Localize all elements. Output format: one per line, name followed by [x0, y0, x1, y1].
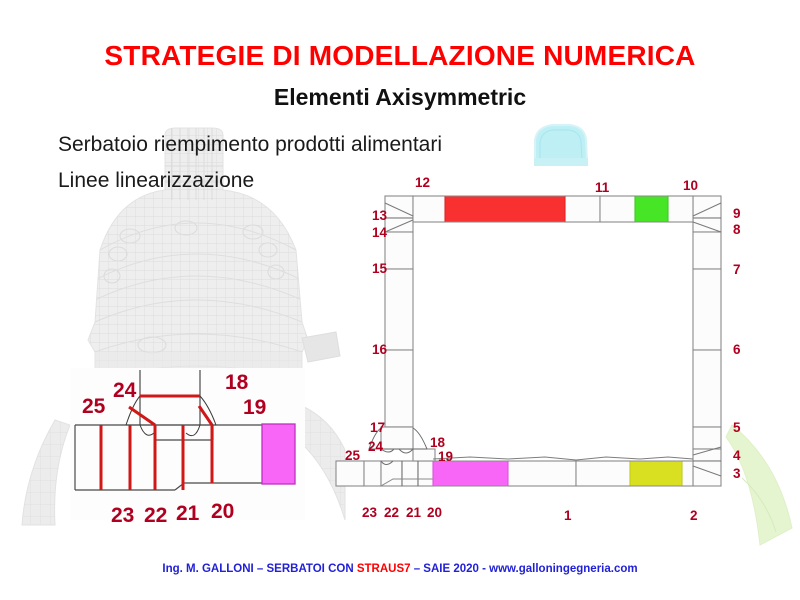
section-label-14: 14 [372, 226, 387, 240]
main-section-drawing [330, 170, 750, 520]
element-magenta [433, 461, 508, 486]
body-line-2: Linee linearizzazione [58, 169, 254, 193]
footer-part-1: Ing. M. GALLONI – SERBATOI CON [162, 563, 356, 575]
section-label-19: 19 [438, 450, 453, 464]
footer-highlight: STRAUS7 [357, 563, 411, 575]
detail-label-25: 25 [82, 396, 105, 417]
section-label-8: 8 [733, 223, 741, 237]
wavy-interface-line [433, 457, 693, 460]
detail-label-18: 18 [225, 372, 248, 393]
page-title: STRATEGIE DI MODELLAZIONE NUMERICA [0, 40, 800, 72]
dome-shape-cyan [534, 125, 588, 166]
detail-label-24: 24 [113, 380, 136, 401]
section-label-16: 16 [372, 343, 387, 357]
section-label-12: 12 [415, 176, 430, 190]
section-label-15: 15 [372, 262, 387, 276]
section-label-24: 24 [368, 440, 383, 454]
section-label-9: 9 [733, 207, 741, 221]
section-label-21: 21 [406, 506, 421, 520]
section-label-3: 3 [733, 467, 741, 481]
detail-label-19: 19 [243, 397, 266, 418]
element-yellowgreen [630, 461, 682, 486]
section-label-23: 23 [362, 506, 377, 520]
section-label-18: 18 [430, 436, 445, 450]
section-label-25: 25 [345, 449, 360, 463]
page-subtitle: Elementi Axisymmetric [0, 84, 800, 111]
section-label-2: 2 [690, 509, 698, 523]
footer-credit: Ing. M. GALLONI – SERBATOI CON STRAUS7 –… [0, 563, 800, 575]
section-label-7: 7 [733, 263, 741, 277]
section-label-20: 20 [427, 506, 442, 520]
section-label-5: 5 [733, 421, 741, 435]
element-green [635, 196, 668, 222]
section-label-10: 10 [683, 179, 698, 193]
footer-part-2: – SAIE 2020 - www.galloningegneria.com [411, 563, 638, 575]
section-label-1: 1 [564, 509, 572, 523]
section-label-22: 22 [384, 506, 399, 520]
detail-element-magenta [262, 424, 295, 484]
section-label-17: 17 [370, 421, 385, 435]
detail-label-22: 22 [144, 505, 167, 526]
detail-label-21: 21 [176, 503, 199, 524]
section-label-4: 4 [733, 449, 741, 463]
body-line-1: Serbatoio riempimento prodotti alimentar… [58, 133, 442, 157]
section-label-6: 6 [733, 343, 741, 357]
section-label-13: 13 [372, 209, 387, 223]
element-red [445, 196, 565, 222]
slide-canvas: STRATEGIE DI MODELLAZIONE NUMERICA Eleme… [0, 0, 800, 600]
detail-label-23: 23 [111, 505, 134, 526]
section-label-11: 11 [595, 181, 609, 195]
detail-label-20: 20 [211, 501, 234, 522]
